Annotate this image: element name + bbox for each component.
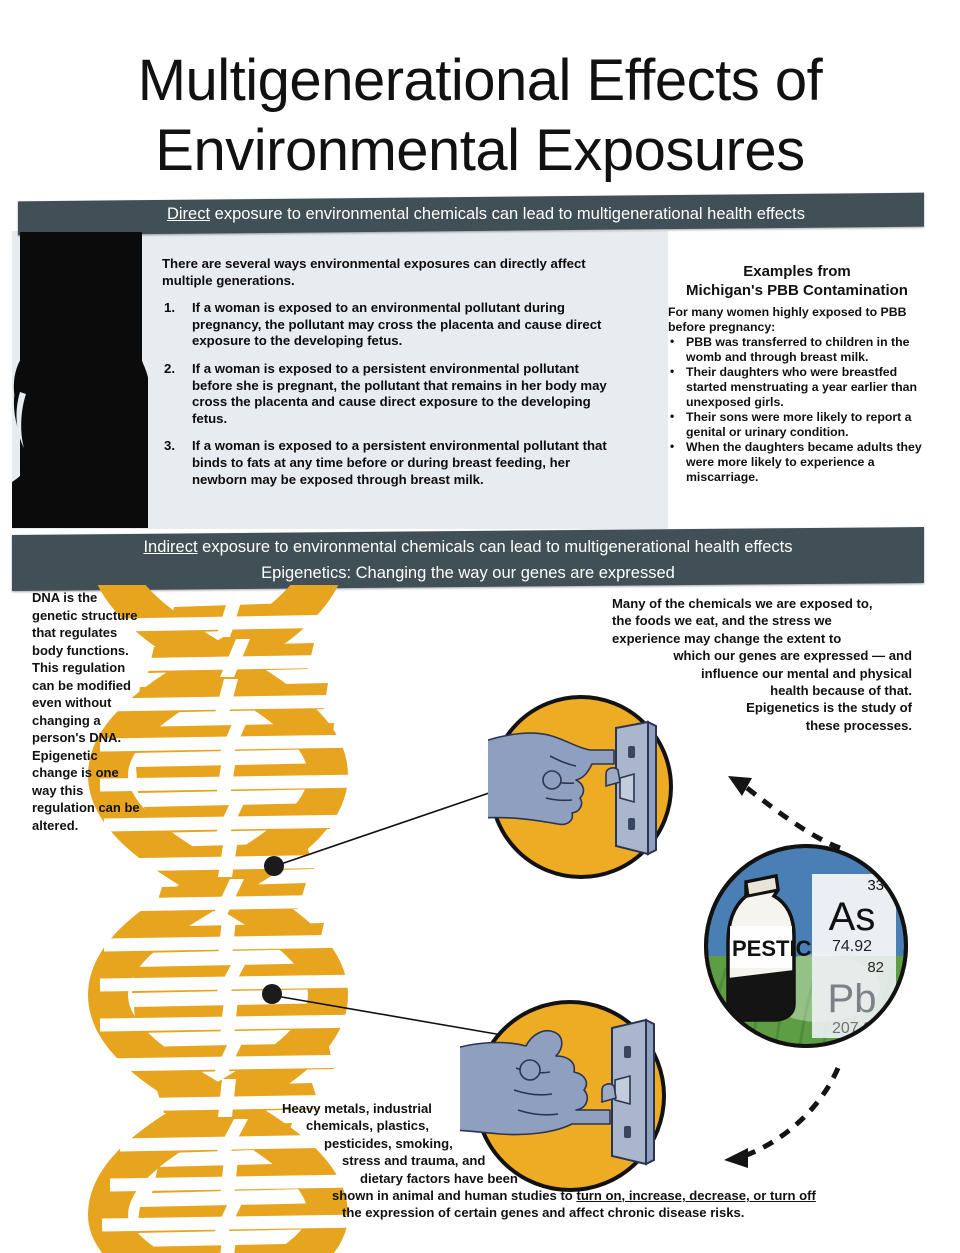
list-item-text: If a woman is exposed to a persistent en… — [192, 438, 607, 486]
page-title: Multigenerational Effects of Environment… — [0, 46, 960, 186]
list-item: 3. If a woman is exposed to a persistent… — [162, 438, 622, 488]
list-item-text: Their daughters who were breastfed start… — [686, 365, 917, 408]
list-item-number: 1. — [164, 300, 186, 317]
direct-exposure-banner: Direct exposure to environmental chemica… — [18, 193, 924, 236]
list-item-text: If a woman is exposed to a persistent en… — [192, 361, 607, 426]
list-item-text: PBB was transferred to children in the w… — [686, 335, 909, 364]
list-item-number: 2. — [164, 361, 186, 378]
pbb-title-line2: Michigan's PBB Contamination — [668, 281, 926, 300]
indirect-banner-line1: Indirect exposure to environmental chemi… — [143, 538, 792, 556]
list-item-text: Their sons were more likely to report a … — [686, 410, 912, 439]
hand-light-switch-on-illustration — [460, 998, 692, 1194]
pregnant-woman-silhouette — [2, 232, 148, 528]
pbb-title: Examples from Michigan's PBB Contaminati… — [668, 262, 926, 300]
list-item: 2. If a woman is exposed to a persistent… — [162, 361, 622, 427]
list-item-text: When the daughters became adults they we… — [686, 440, 922, 483]
bullet-icon: • — [670, 334, 674, 349]
list-item: • Their daughters who were breastfed sta… — [668, 365, 926, 409]
dashed-arrow-down-left — [690, 1062, 880, 1172]
infographic-page: Multigenerational Effects of Environment… — [0, 0, 960, 1253]
pbb-bullet-list: • PBB was transferred to children in the… — [668, 335, 926, 484]
pbb-title-line1: Examples from — [668, 262, 926, 281]
direct-exposure-list: 1. If a woman is exposed to an environme… — [162, 300, 622, 488]
element-as-symbol: As — [829, 895, 876, 939]
page-title-line1: Multigenerational Effects of — [0, 46, 960, 116]
page-title-line2: Environmental Exposures — [0, 116, 960, 186]
list-item: • PBB was transferred to children in the… — [668, 335, 926, 364]
dna-marker-dot-lower — [262, 984, 282, 1004]
chemicals-illustration: PESTIC 33 As 74.92 82 Pb 207.2 — [700, 838, 918, 1058]
dashed-arrow-up-left — [690, 748, 880, 858]
list-item-number: 3. — [164, 438, 186, 455]
bullet-icon: • — [670, 409, 674, 424]
pbb-lead-text: For many women highly exposed to PBB bef… — [668, 305, 926, 334]
pbb-examples-block: Examples from Michigan's PBB Contaminati… — [668, 262, 926, 485]
element-pb-symbol: Pb — [828, 977, 877, 1021]
pesticide-bottle-label: PESTIC — [732, 936, 812, 961]
direct-intro-text: There are several ways environmental exp… — [162, 256, 622, 289]
dna-marker-dot-upper — [264, 856, 284, 876]
element-as-mass: 74.92 — [832, 938, 872, 955]
direct-banner-text: Direct exposure to environmental chemica… — [18, 197, 924, 231]
indirect-banner-text: Indirect exposure to environmental chemi… — [12, 531, 924, 586]
heavy-line-7: the expression of certain genes and affe… — [276, 1204, 860, 1221]
list-item: • Their sons were more likely to report … — [668, 410, 926, 439]
direct-banner-underlined-word: Direct — [167, 205, 210, 223]
indirect-banner-rest: exposure to environmental chemicals can … — [198, 538, 793, 556]
list-item-text: If a woman is exposed to an environmenta… — [192, 300, 601, 348]
direct-banner-rest: exposure to environmental chemicals can … — [210, 205, 805, 223]
list-item: 1. If a woman is exposed to an environme… — [162, 300, 622, 350]
bullet-icon: • — [670, 439, 674, 454]
bullet-icon: • — [670, 364, 674, 379]
element-pb-number: 82 — [867, 959, 884, 976]
hand-light-switch-off-illustration — [488, 694, 674, 880]
direct-exposure-body: There are several ways environmental exp… — [162, 256, 622, 499]
indirect-banner-underlined-word: Indirect — [143, 538, 197, 556]
list-item: • When the daughters became adults they … — [668, 440, 926, 484]
